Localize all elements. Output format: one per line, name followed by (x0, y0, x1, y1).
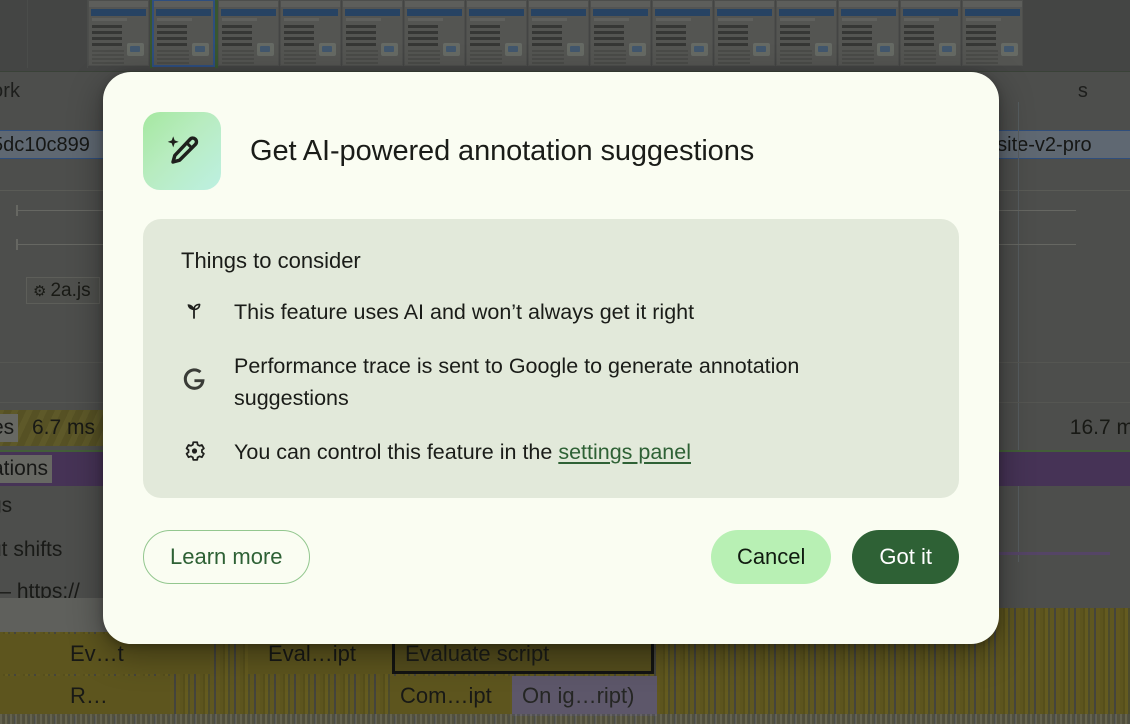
list-item: You can control this feature in the sett… (181, 436, 923, 468)
magic-pencil-icon (143, 112, 221, 190)
dialog-action-buttons: Cancel Got it (711, 530, 959, 584)
list-item-text-prefix: You can control this feature in the (234, 440, 558, 464)
google-g-icon (181, 350, 207, 392)
list-item-text: This feature uses AI and won’t always ge… (234, 296, 694, 328)
list-item-text: Performance trace is sent to Google to g… (234, 350, 894, 414)
got-it-button[interactable]: Got it (852, 530, 959, 584)
dialog-title: Get AI-powered annotation suggestions (250, 135, 754, 168)
list-item: Performance trace is sent to Google to g… (181, 350, 923, 414)
dialog-footer: Learn more Cancel Got it (143, 530, 959, 584)
sprout-icon (181, 296, 207, 322)
ai-annotation-consent-dialog: Get AI-powered annotation suggestions Th… (103, 72, 999, 644)
list-item-text: You can control this feature in the sett… (234, 436, 691, 468)
things-to-consider-panel: Things to consider This feature uses AI … (143, 219, 959, 498)
gear-icon (181, 436, 207, 463)
cancel-button[interactable]: Cancel (711, 530, 831, 584)
list-item: This feature uses AI and won’t always ge… (181, 296, 923, 328)
settings-panel-link[interactable]: settings panel (558, 440, 691, 464)
learn-more-button[interactable]: Learn more (143, 530, 310, 584)
dialog-header: Get AI-powered annotation suggestions (143, 112, 959, 190)
things-to-consider-heading: Things to consider (181, 248, 923, 274)
consideration-list: This feature uses AI and won’t always ge… (181, 296, 923, 468)
